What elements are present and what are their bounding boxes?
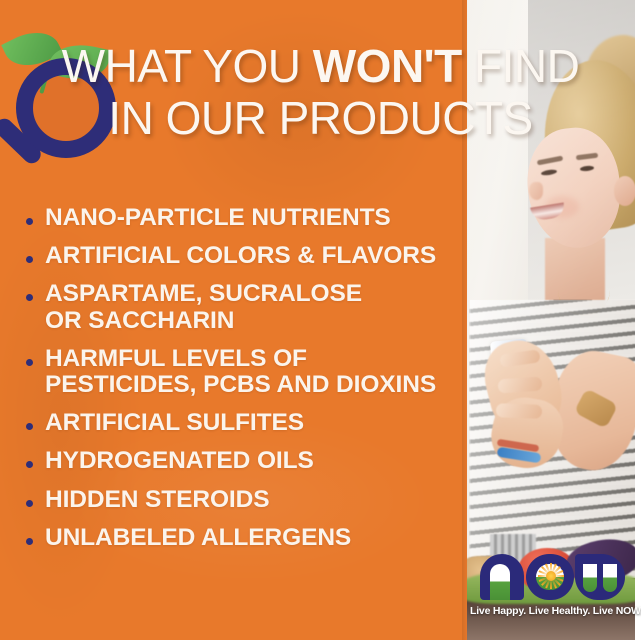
bullet-dot-icon <box>26 461 33 468</box>
bullet-dot-icon <box>26 500 33 507</box>
headline-line-2: IN OUR PRODUCTS <box>0 96 641 140</box>
list-item: ARTIFICIAL SULFITES <box>26 410 456 436</box>
list-item-label: HIDDEN STEROIDS <box>45 487 269 513</box>
list-item-label: ASPARTAME, SUCRALOSEOR SACCHARIN <box>45 281 362 333</box>
list-item-label: ARTIFICIAL COLORS & FLAVORS <box>45 243 436 269</box>
sun-core <box>546 571 556 581</box>
list-item: HIDDEN STEROIDS <box>26 487 456 513</box>
logo-letter-w-counter <box>603 564 617 592</box>
promotional-poster: WHAT YOU WON'T FIND IN OUR PRODUCTS NANO… <box>0 0 641 640</box>
headline-emphasis-wont: WON'T <box>313 40 462 92</box>
bullet-dot-icon <box>26 423 33 430</box>
now-brand-logo: Live Happy. Live Healthy. Live NOW. <box>470 552 635 624</box>
bullet-dot-icon <box>26 294 33 301</box>
list-item: ARTIFICIAL COLORS & FLAVORS <box>26 243 456 269</box>
brand-tagline: Live Happy. Live Healthy. Live NOW. <box>470 605 635 617</box>
logo-letter-n-counter <box>490 564 510 600</box>
list-item-label: HARMFUL LEVELS OFPESTICIDES, PCBS AND DI… <box>45 346 436 398</box>
bullet-dot-icon <box>26 256 33 263</box>
list-item: ASPARTAME, SUCRALOSEOR SACCHARIN <box>26 281 456 333</box>
logo-letter-w-counter <box>583 564 597 592</box>
sun-burst-icon <box>538 563 564 589</box>
list-item: NANO-PARTICLE NUTRIENTS <box>26 205 456 231</box>
bullet-dot-icon <box>26 359 33 366</box>
exclusion-list: NANO-PARTICLE NUTRIENTS ARTIFICIAL COLOR… <box>26 205 456 563</box>
bullet-dot-icon <box>26 538 33 545</box>
list-item: UNLABELED ALLERGENS <box>26 525 456 551</box>
list-item-label: HYDROGENATED OILS <box>45 448 314 474</box>
bullet-dot-icon <box>26 218 33 225</box>
page-title: WHAT YOU WON'T FIND IN OUR PRODUCTS <box>0 44 641 140</box>
list-item-label: ARTIFICIAL SULFITES <box>45 410 304 436</box>
headline-text-what-you: WHAT YOU <box>62 40 313 92</box>
list-item-label: UNLABELED ALLERGENS <box>45 525 351 551</box>
list-item: HARMFUL LEVELS OFPESTICIDES, PCBS AND DI… <box>26 346 456 398</box>
now-wordmark <box>478 552 628 602</box>
list-item-label: NANO-PARTICLE NUTRIENTS <box>45 205 391 231</box>
headline-line-1: WHAT YOU WON'T FIND <box>0 44 641 88</box>
headline-text-find: FIND <box>462 40 580 92</box>
list-item: HYDROGENATED OILS <box>26 448 456 474</box>
